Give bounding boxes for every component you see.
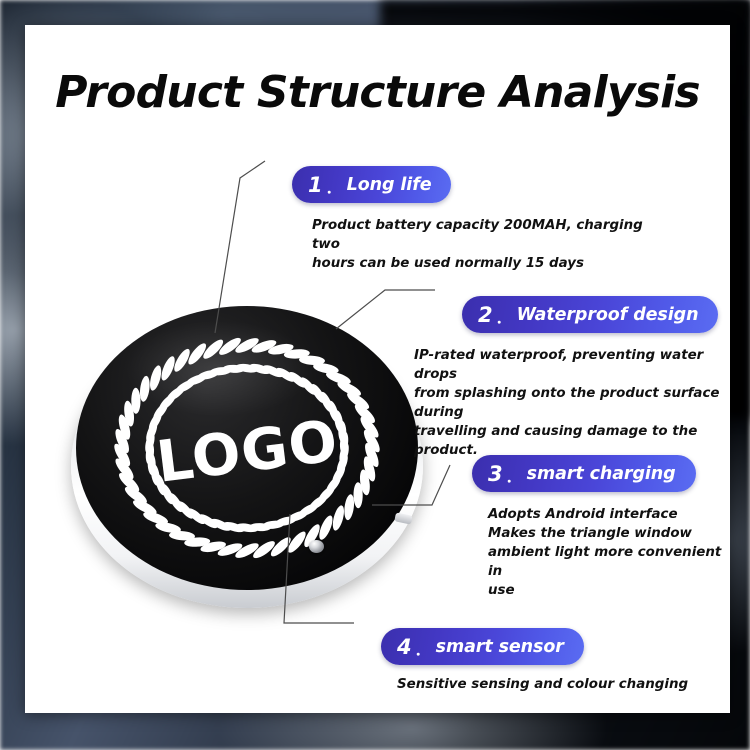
callout-separator-1: ． — [326, 177, 341, 198]
callout-badge-4[interactable]: 4 ． smart sensor — [381, 628, 584, 665]
description-line: hours can be used normally 15 days — [312, 254, 662, 273]
callout-badge-3[interactable]: 3 ． smart charging — [472, 455, 696, 492]
callout-description-4: Sensitive sensing and colour changing — [397, 675, 727, 694]
callout-number-4: 4 — [397, 635, 412, 659]
callout-description-1: Product battery capacity 200MAH, chargin… — [312, 216, 662, 273]
description-line: IP-rated waterproof, preventing water dr… — [414, 346, 744, 384]
callout-label-3: smart charging — [527, 464, 676, 484]
callout-description-3: Adopts Android interfaceMakes the triang… — [488, 505, 736, 600]
product-logo-text: LOGO — [76, 306, 418, 590]
callout-label-1: Long life — [347, 175, 432, 195]
callout-separator-4: ． — [415, 639, 430, 660]
callout-badge-2[interactable]: 2 ． Waterproof design — [462, 296, 718, 333]
disc-face: LOGO — [76, 306, 418, 590]
description-line: travelling and causing damage to the pro… — [414, 422, 744, 460]
description-line: ambient light more convenient in — [488, 543, 736, 581]
callout-separator-3: ． — [506, 466, 521, 487]
callout-badge-1[interactable]: 1 ． Long life — [292, 166, 451, 203]
description-line: Makes the triangle window — [488, 524, 736, 543]
callout-number-3: 3 — [488, 462, 503, 486]
callout-number-2: 2 — [478, 303, 493, 327]
metallic-sensor-dome-icon — [309, 540, 324, 553]
description-line: Product battery capacity 200MAH, chargin… — [312, 216, 662, 254]
callout-label-2: Waterproof design — [517, 305, 699, 325]
callout-label-4: smart sensor — [436, 637, 564, 657]
callout-number-1: 1 — [308, 173, 323, 197]
description-line: from splashing onto the product surface … — [414, 384, 744, 422]
callout-separator-2: ． — [496, 307, 511, 328]
description-line: use — [488, 581, 736, 600]
page-title: Product Structure Analysis — [25, 67, 730, 118]
product-image: LOGO — [71, 306, 423, 608]
description-line: Sensitive sensing and colour changing — [397, 675, 727, 694]
description-line: Adopts Android interface — [488, 505, 736, 524]
content-card: Product Structure Analysis LOGO 1 ． Long… — [25, 25, 730, 713]
callout-description-2: IP-rated waterproof, preventing water dr… — [414, 346, 744, 460]
